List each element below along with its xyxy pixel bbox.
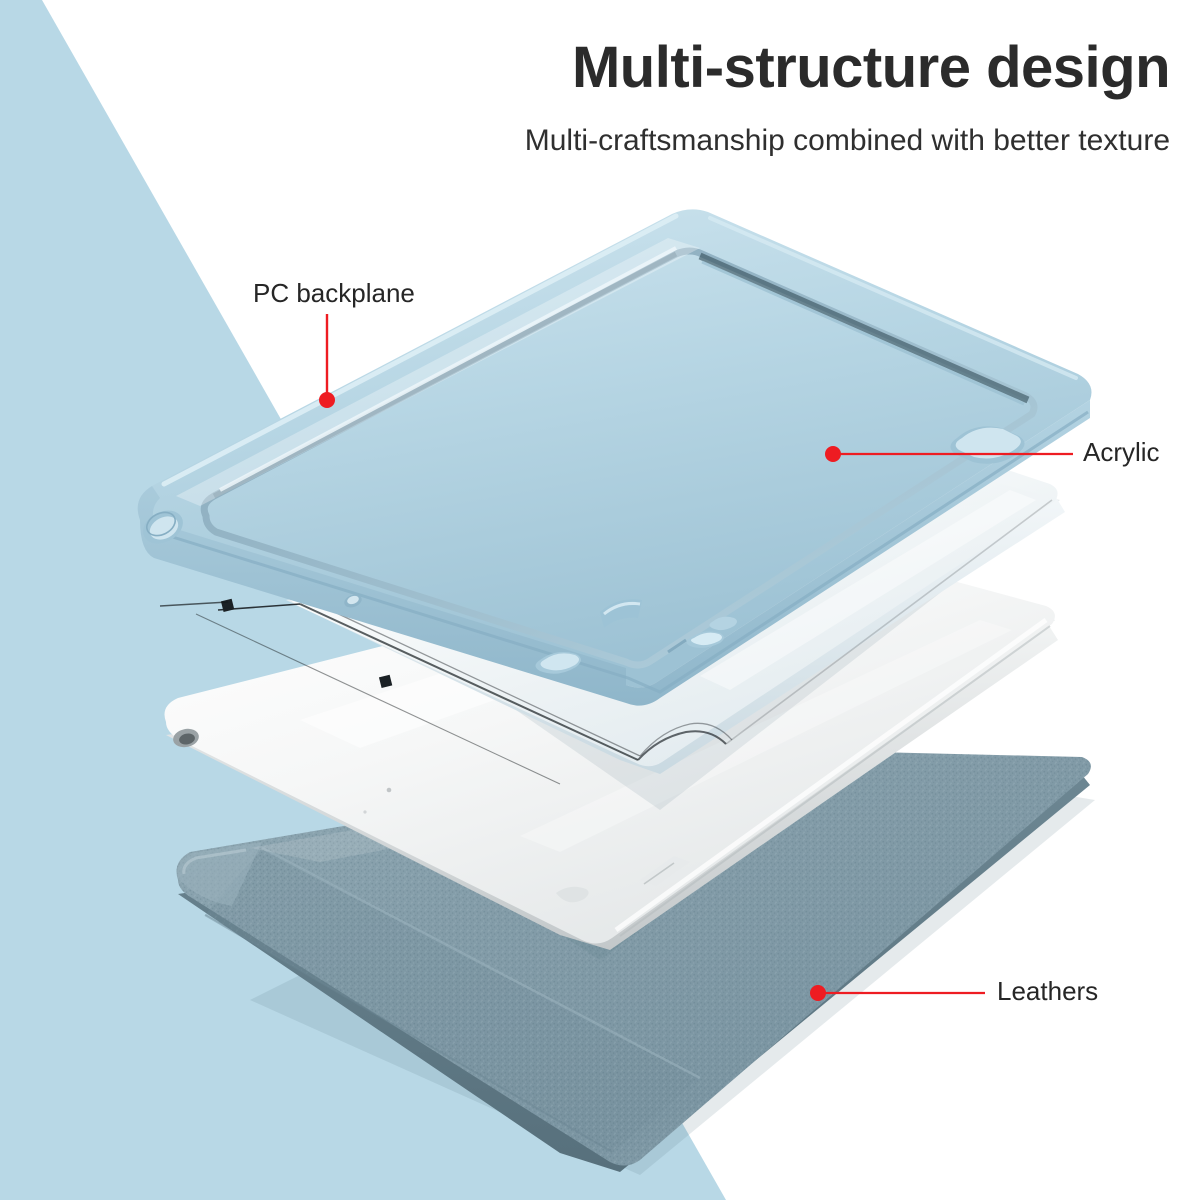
exploded-product-illustration — [0, 0, 1200, 1200]
infographic-canvas: Multi-structure design Multi-craftsmansh… — [0, 0, 1200, 1200]
page-subtitle: Multi-craftsmanship combined with better… — [470, 121, 1170, 160]
callout-label-leathers: Leathers — [997, 976, 1098, 1007]
callout-label-acrylic: Acrylic — [1083, 437, 1160, 468]
page-title: Multi-structure design — [470, 38, 1170, 99]
heading-block: Multi-structure design Multi-craftsmansh… — [470, 38, 1170, 160]
callout-label-pc-backplane: PC backplane — [253, 278, 415, 309]
